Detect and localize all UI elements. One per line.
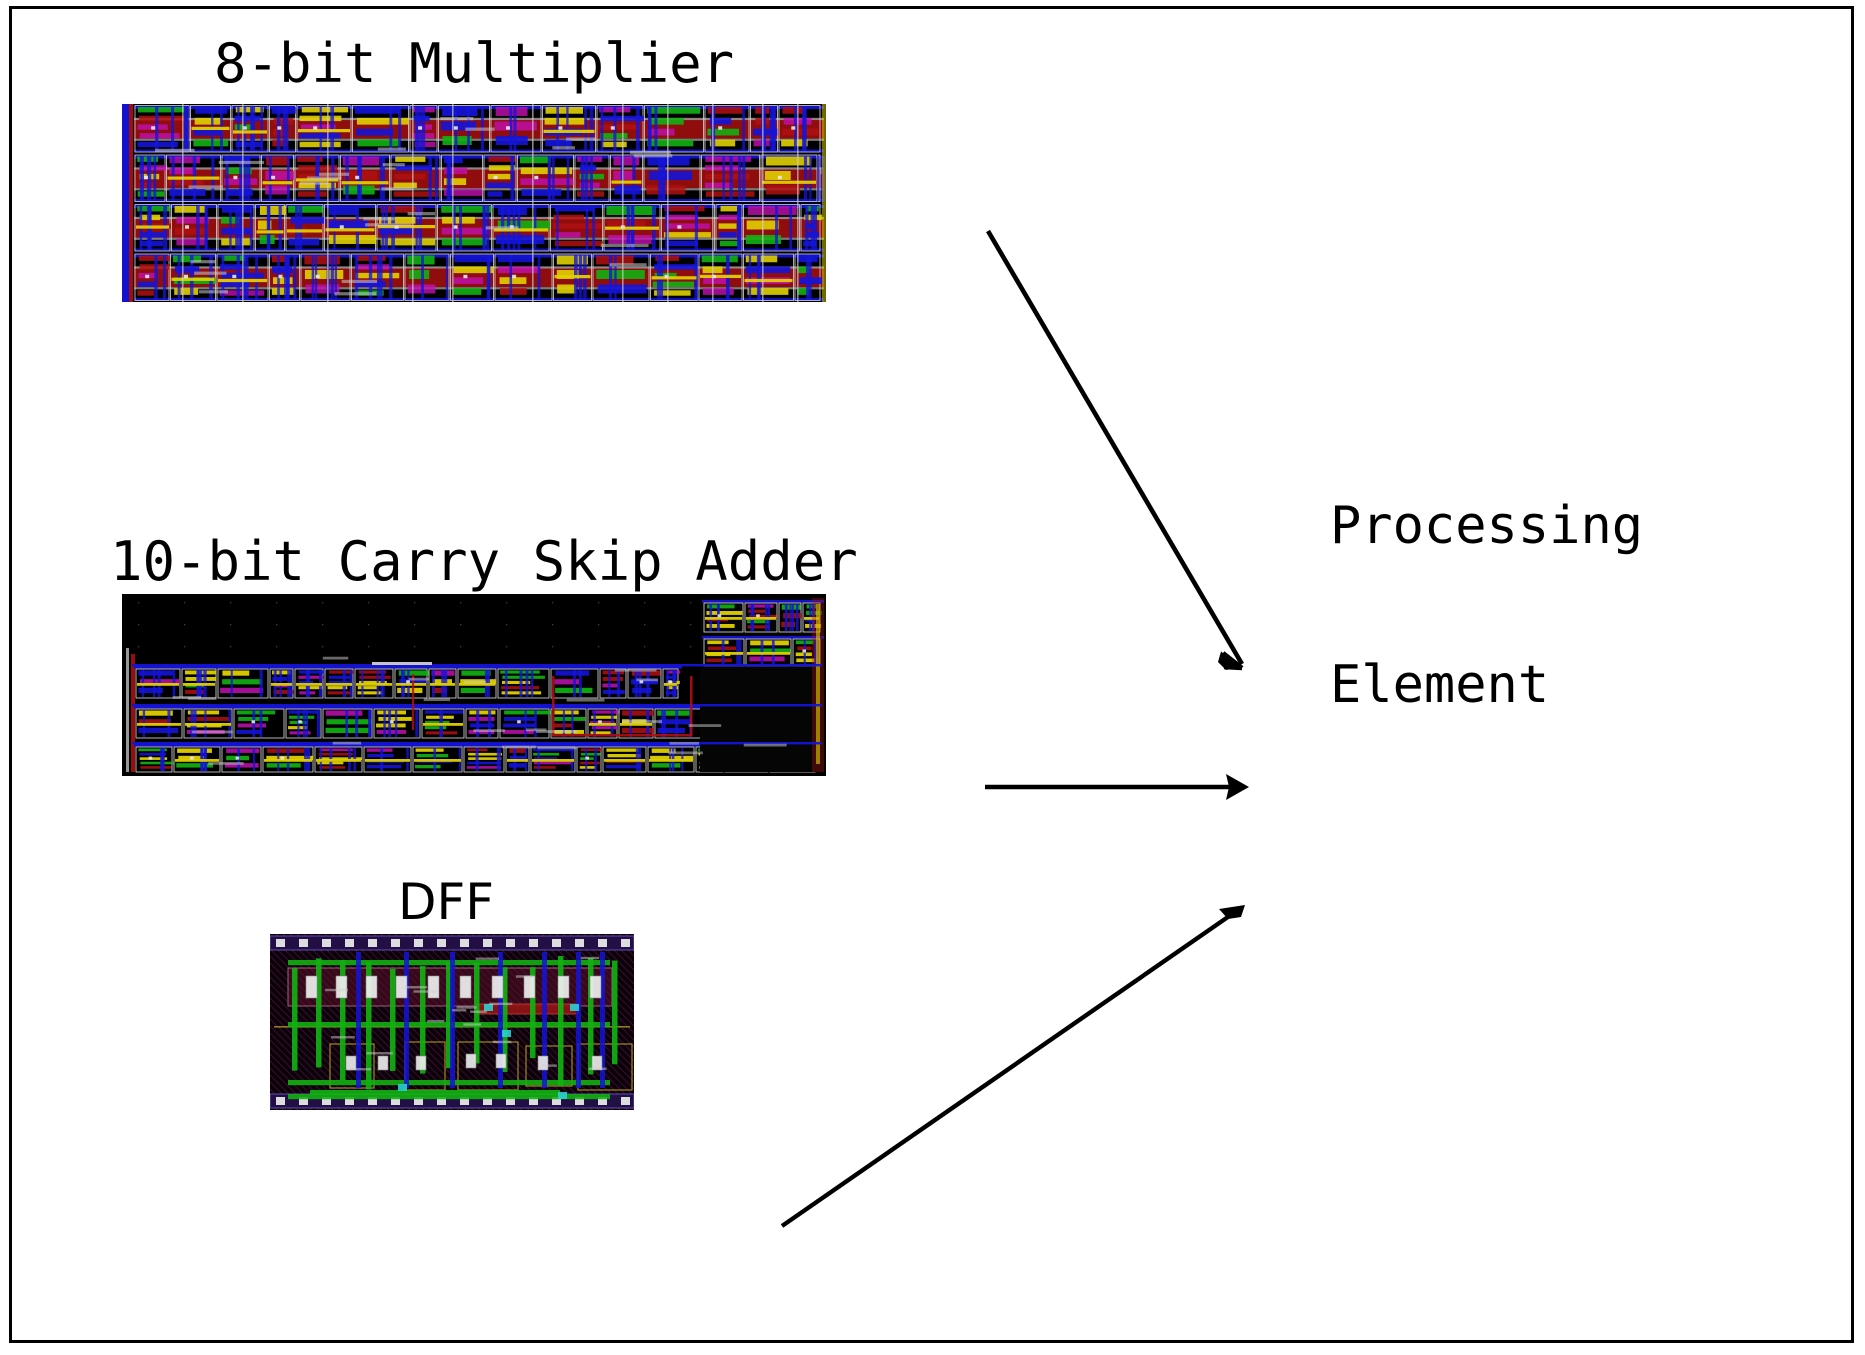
adder-caption: 10-bit Carry Skip Adder <box>110 534 858 591</box>
arrow-multiplier-to-pe <box>988 231 1242 670</box>
dff-layout-image <box>270 934 634 1110</box>
multiplier-layout-image <box>122 104 826 302</box>
processing-element-line-1: Processing <box>1330 500 1643 553</box>
arrow-adder-to-pe <box>985 774 1249 800</box>
dff-caption: DFF <box>398 876 494 929</box>
diagram-canvas: 8-bit Multiplier 10-bit Carry Skip Adder… <box>0 0 1865 1355</box>
arrow-dff-to-pe <box>782 905 1245 1226</box>
processing-element-line-2: Element <box>1330 659 1643 712</box>
multiplier-caption: 8-bit Multiplier <box>214 36 734 93</box>
processing-element-label: Processing Element <box>1330 394 1643 818</box>
carry-skip-adder-layout-image <box>122 594 826 776</box>
